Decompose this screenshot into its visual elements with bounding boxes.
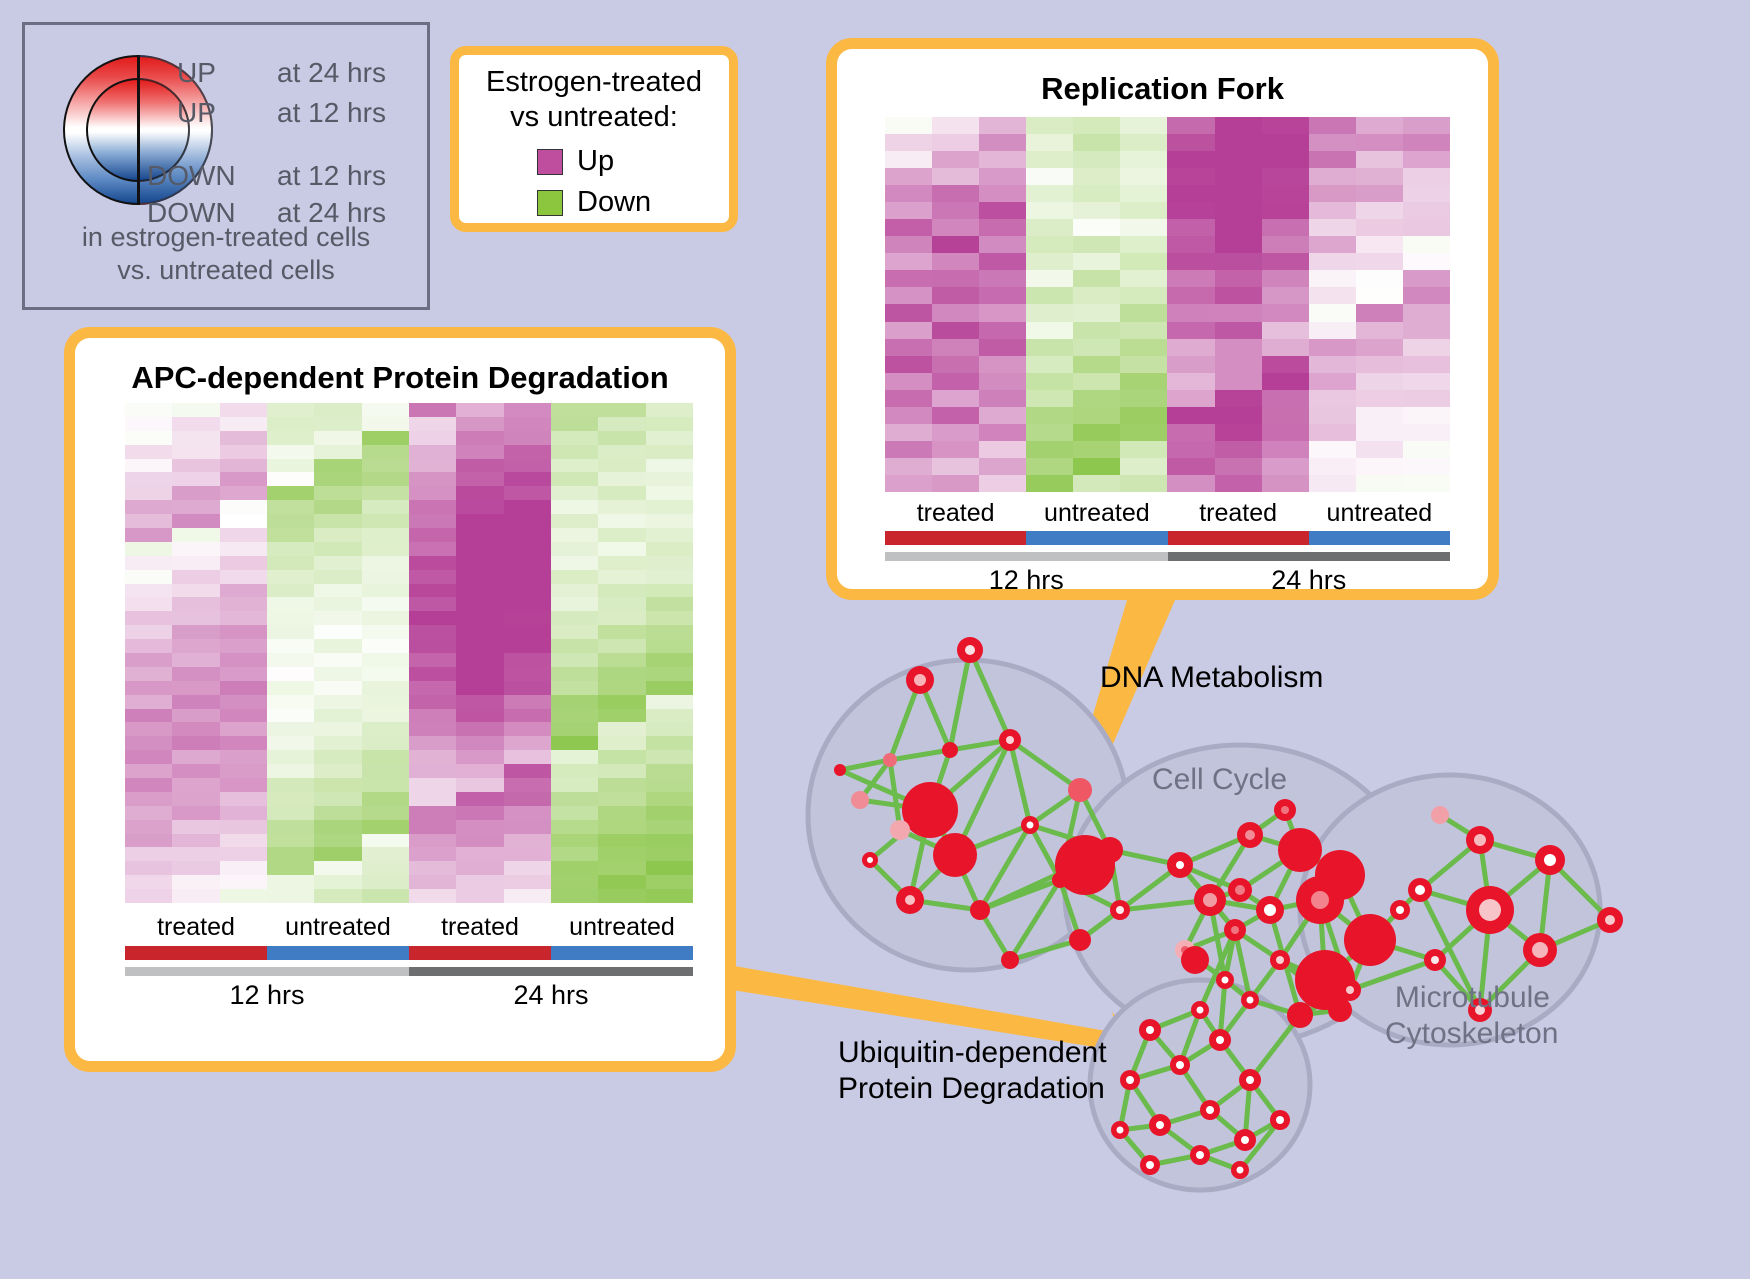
- heatmap-cell: [1262, 185, 1309, 202]
- heatmap-cell: [125, 847, 172, 861]
- heatmap-cell: [172, 736, 219, 750]
- heatmap-cell: [646, 445, 693, 459]
- heatmap-cell: [1356, 236, 1403, 253]
- heatmap-cell: [1120, 441, 1167, 458]
- heatmap-cell: [1167, 287, 1214, 304]
- heatmap-cell: [932, 219, 979, 236]
- panel-replication-fork: Replication Fork treated untreated treat…: [826, 38, 1499, 600]
- heatmap-cell: [1403, 287, 1450, 304]
- heatmap-cell: [409, 861, 456, 875]
- cluster-label-ubiquitin: Ubiquitin-dependent Protein Degradation: [838, 1035, 1128, 1107]
- heatmap-cell: [172, 750, 219, 764]
- heatmap-cell: [646, 820, 693, 834]
- heatmap-cell: [172, 611, 219, 625]
- heatmap-cell: [504, 417, 551, 431]
- heatmap-cell: [1309, 253, 1356, 270]
- heatmap-cell: [456, 764, 503, 778]
- heatmap-cell: [362, 764, 409, 778]
- heatmap-cell: [125, 597, 172, 611]
- heatmap-cell: [646, 403, 693, 417]
- heatmap-cell: [646, 611, 693, 625]
- heatmap-cell: [172, 778, 219, 792]
- heatmap-cell: [220, 556, 267, 570]
- heatmap-cell: [125, 820, 172, 834]
- heatmap-cell: [314, 847, 361, 861]
- heatmap-cell: [551, 445, 598, 459]
- heatmap-cell: [267, 597, 314, 611]
- network-diagram: DNA Metabolism Cell Cycle Microtubule Cy…: [780, 610, 1750, 1279]
- heatmap-cell: [456, 806, 503, 820]
- heatmap-cell: [1215, 407, 1262, 424]
- heatmap-cell: [172, 556, 219, 570]
- heatmap-cell: [267, 764, 314, 778]
- heatmap-cell: [1073, 339, 1120, 356]
- heatmap-cell: [1073, 322, 1120, 339]
- heatmap-cell: [172, 542, 219, 556]
- heatmap-cell: [1073, 253, 1120, 270]
- heatmap-cell: [220, 778, 267, 792]
- heatmap-cell: [362, 695, 409, 709]
- heatmap-cell: [885, 151, 932, 168]
- heatmap-cell: [1403, 339, 1450, 356]
- heatmap-cell: [125, 792, 172, 806]
- heatmap-cell: [598, 875, 645, 889]
- heatmap-cell: [1356, 441, 1403, 458]
- heatmap-cell: [504, 597, 551, 611]
- heatmap-cell: [551, 681, 598, 695]
- heatmap-cell: [885, 236, 932, 253]
- heatmap-cell: [125, 570, 172, 584]
- time-label-12hrs: 12 hrs: [125, 980, 409, 1011]
- heatmap-cell: [598, 806, 645, 820]
- heatmap-cell: [220, 486, 267, 500]
- heatmap-cell: [220, 639, 267, 653]
- heatmap-cell: [172, 722, 219, 736]
- heatmap-cell: [1403, 304, 1450, 321]
- group-color-bar-replication-fork: [885, 531, 1450, 545]
- key-up-24-time: at 24 hrs: [277, 57, 386, 89]
- heatmap-cell: [979, 287, 1026, 304]
- heatmap-cell: [172, 792, 219, 806]
- heatmap-cell: [1167, 270, 1214, 287]
- heatmap-cell: [125, 472, 172, 486]
- heatmap-cell: [1403, 253, 1450, 270]
- heatmap-cell: [885, 202, 932, 219]
- heatmap-cell: [456, 528, 503, 542]
- heatmap-cell: [979, 390, 1026, 407]
- heatmap-cell: [362, 611, 409, 625]
- heatmap-cell: [267, 639, 314, 653]
- heatmap-cell: [314, 472, 361, 486]
- heatmap-cell: [362, 486, 409, 500]
- heatmap-cell: [1026, 390, 1073, 407]
- heatmap-cell: [1120, 219, 1167, 236]
- heatmap-cell: [979, 168, 1026, 185]
- heatmap-cell: [1073, 202, 1120, 219]
- heatmap-cell: [456, 625, 503, 639]
- heatmap-cell: [456, 695, 503, 709]
- heatmap-cell: [125, 889, 172, 903]
- heatmap-cell: [646, 570, 693, 584]
- heatmap-cell: [456, 514, 503, 528]
- heatmap-cell: [1262, 475, 1309, 492]
- heatmap-cell: [125, 806, 172, 820]
- heatmap-cell: [504, 584, 551, 598]
- heatmap-cell: [1167, 424, 1214, 441]
- heatmap-cell: [1120, 151, 1167, 168]
- panel-apc-degradation: APC-dependent Protein Degradation treate…: [64, 327, 736, 1072]
- heatmap-cell: [125, 667, 172, 681]
- heatmap-cell: [314, 889, 361, 903]
- heatmap-cell: [885, 390, 932, 407]
- heatmap-cell: [1262, 304, 1309, 321]
- heatmap-cell: [125, 736, 172, 750]
- heatmap-cell: [125, 459, 172, 473]
- heatmap-cell: [504, 528, 551, 542]
- heatmap-cell: [220, 764, 267, 778]
- heatmap-cell: [1309, 407, 1356, 424]
- legend-title-line2: vs untreated:: [459, 100, 729, 135]
- heatmap-cell: [314, 736, 361, 750]
- heatmap-cell: [1356, 475, 1403, 492]
- heatmap-cell: [456, 875, 503, 889]
- heatmap-cell: [220, 667, 267, 681]
- heatmap-cell: [409, 709, 456, 723]
- heatmap-cell: [1026, 441, 1073, 458]
- heatmap-cell: [646, 722, 693, 736]
- heatmap-cell: [220, 806, 267, 820]
- heatmap-cell: [551, 486, 598, 500]
- cluster-label-microtubule-line2: Cytoskeleton: [1385, 1016, 1550, 1052]
- heatmap-cell: [979, 270, 1026, 287]
- heatmap-cell: [551, 736, 598, 750]
- heatmap-cell: [551, 875, 598, 889]
- heatmap-cell: [551, 695, 598, 709]
- heatmap-cell: [172, 820, 219, 834]
- heatmap-cell: [314, 597, 361, 611]
- heatmap-cell: [456, 889, 503, 903]
- heatmap-cell: [1309, 236, 1356, 253]
- heatmap-cell: [979, 441, 1026, 458]
- heatmap-cell: [979, 356, 1026, 373]
- heatmap-cell: [456, 834, 503, 848]
- heatmap-cell: [504, 778, 551, 792]
- heatmap-cell: [1262, 134, 1309, 151]
- heatmap-cell: [314, 403, 361, 417]
- group-bar-treated-12: [125, 946, 267, 960]
- heatmap-cell: [125, 403, 172, 417]
- heatmap-cell: [267, 459, 314, 473]
- heatmap-cell: [1167, 441, 1214, 458]
- heatmap-cell: [979, 134, 1026, 151]
- heatmap-cell: [1403, 322, 1450, 339]
- heatmap-cell: [1073, 134, 1120, 151]
- heatmap-cell: [1262, 458, 1309, 475]
- heatmap-cell: [456, 486, 503, 500]
- heatmap-cell: [885, 458, 932, 475]
- heatmap-cell: [1356, 151, 1403, 168]
- heatmap-cell: [409, 500, 456, 514]
- heatmap-cell: [1026, 304, 1073, 321]
- heatmap-cell: [314, 875, 361, 889]
- heatmap-cell: [504, 459, 551, 473]
- heatmap-cell: [267, 556, 314, 570]
- heatmap-cell: [172, 875, 219, 889]
- up-color-swatch: [537, 149, 563, 175]
- heatmap-cell: [314, 500, 361, 514]
- heatmap-cell: [314, 556, 361, 570]
- heatmap-cell: [267, 584, 314, 598]
- heatmap-cell: [314, 570, 361, 584]
- heatmap-cell: [267, 834, 314, 848]
- heatmap-cell: [267, 667, 314, 681]
- heatmap-cell: [979, 202, 1026, 219]
- heatmap-cell: [362, 778, 409, 792]
- heatmap-cell: [220, 695, 267, 709]
- heatmap-cell: [885, 356, 932, 373]
- heatmap-cell: [456, 597, 503, 611]
- heatmap-cell: [551, 542, 598, 556]
- heatmap-cell: [409, 778, 456, 792]
- heatmap-cell: [125, 431, 172, 445]
- heatmap-cell: [598, 667, 645, 681]
- heatmap-cell: [551, 611, 598, 625]
- heatmap-cell: [551, 820, 598, 834]
- heatmap-cell: [1403, 441, 1450, 458]
- heatmap-cell: [1167, 373, 1214, 390]
- heatmap-cell: [1262, 270, 1309, 287]
- cluster-label-microtubule: Microtubule Cytoskeleton: [1385, 980, 1550, 1052]
- heatmap-cell: [1309, 185, 1356, 202]
- time-bar-24hrs: [409, 967, 693, 976]
- heatmap-cell: [1073, 373, 1120, 390]
- heatmap-cell: [409, 653, 456, 667]
- heatmap-cell: [646, 889, 693, 903]
- color-key-footer: in estrogen-treated cells vs. untreated …: [25, 221, 427, 287]
- heatmap-cell: [551, 709, 598, 723]
- heatmap-cell: [220, 709, 267, 723]
- heatmap-cell: [1215, 304, 1262, 321]
- heatmap-cell: [1215, 219, 1262, 236]
- heatmap-cell: [1026, 134, 1073, 151]
- heatmap-cell: [314, 681, 361, 695]
- heatmap-cell: [1215, 424, 1262, 441]
- heatmap-cell: [598, 597, 645, 611]
- heatmap-cell: [551, 764, 598, 778]
- time-bar-24hrs: [1168, 552, 1451, 561]
- heatmap-cell: [1026, 407, 1073, 424]
- heatmap-cell: [125, 681, 172, 695]
- heatmap-cell: [456, 570, 503, 584]
- heatmap-cell: [504, 431, 551, 445]
- heatmap-cell: [220, 597, 267, 611]
- heatmap-cell: [267, 778, 314, 792]
- heatmap-cell: [409, 889, 456, 903]
- heatmap-cell: [1215, 322, 1262, 339]
- heatmap-cell: [1215, 253, 1262, 270]
- heatmap-cell: [220, 861, 267, 875]
- heatmap-cell: [646, 875, 693, 889]
- heatmap-cell: [598, 431, 645, 445]
- heatmap-cell: [1073, 236, 1120, 253]
- heatmap-cell: [1167, 168, 1214, 185]
- heatmap-cell: [1073, 424, 1120, 441]
- heatmap-cell: [267, 542, 314, 556]
- heatmap-cell: [1356, 270, 1403, 287]
- down-color-swatch: [537, 190, 563, 216]
- heatmap-cell: [172, 597, 219, 611]
- heatmap-cell: [125, 709, 172, 723]
- heatmap-cell: [409, 639, 456, 653]
- heatmap-cell: [1120, 185, 1167, 202]
- heatmap-cell: [409, 750, 456, 764]
- heatmap-cell: [1026, 475, 1073, 492]
- heatmap-cell: [885, 424, 932, 441]
- heatmap-cell: [1073, 441, 1120, 458]
- heatmap-cell: [172, 500, 219, 514]
- heatmap-cell: [409, 792, 456, 806]
- heatmap-cell: [598, 584, 645, 598]
- heatmap-cell: [1403, 134, 1450, 151]
- heatmap-cell: [551, 861, 598, 875]
- heatmap-cell: [125, 542, 172, 556]
- heatmap-cell: [504, 570, 551, 584]
- heatmap-cell: [172, 695, 219, 709]
- heatmap-cell: [456, 861, 503, 875]
- heatmap-cell: [646, 542, 693, 556]
- heatmap-cell: [598, 403, 645, 417]
- heatmap-cell: [220, 403, 267, 417]
- heatmap-cell: [172, 847, 219, 861]
- heatmap-cell: [1356, 356, 1403, 373]
- heatmap-cell: [125, 695, 172, 709]
- heatmap-cell: [267, 820, 314, 834]
- heatmap-cell: [504, 709, 551, 723]
- heatmap-cell: [646, 861, 693, 875]
- heatmap-cell: [1262, 168, 1309, 185]
- heatmap-cell: [598, 500, 645, 514]
- heatmap-cell: [1167, 304, 1214, 321]
- heatmap-cell: [267, 500, 314, 514]
- heatmap-cell: [456, 500, 503, 514]
- heatmap-cell: [1309, 390, 1356, 407]
- heatmap-cell: [1026, 185, 1073, 202]
- heatmap-cell: [267, 403, 314, 417]
- heatmap-cell: [125, 653, 172, 667]
- heatmap-cell: [1403, 185, 1450, 202]
- heatmap-cell: [1356, 168, 1403, 185]
- heatmap-cell: [409, 611, 456, 625]
- heatmap-cell: [598, 834, 645, 848]
- heatmap-cell: [314, 486, 361, 500]
- heatmap-cell: [409, 445, 456, 459]
- heatmap-cell: [362, 584, 409, 598]
- heatmap-cell: [885, 219, 932, 236]
- heatmap-cell: [1167, 253, 1214, 270]
- heatmap-cell: [1120, 475, 1167, 492]
- heatmap-cell: [1309, 373, 1356, 390]
- heatmap-cell: [885, 270, 932, 287]
- heatmap-cell: [1215, 339, 1262, 356]
- heatmap-cell: [172, 514, 219, 528]
- heatmap-cell: [1215, 373, 1262, 390]
- heatmap-cell: [551, 514, 598, 528]
- time-color-bar-replication-fork: [885, 552, 1450, 561]
- time-label-24hrs: 24 hrs: [409, 980, 693, 1011]
- heatmap-cell: [1120, 202, 1167, 219]
- heatmap-cell: [1215, 202, 1262, 219]
- heatmap-cell: [314, 584, 361, 598]
- heatmap-cell: [314, 709, 361, 723]
- heatmap-cell: [504, 681, 551, 695]
- heatmap-cell: [598, 736, 645, 750]
- group-label-untreated-12: untreated: [1026, 499, 1167, 528]
- heatmap-cell: [646, 778, 693, 792]
- heatmap-cell: [125, 639, 172, 653]
- heatmap-cell: [409, 584, 456, 598]
- heatmap-cell: [1167, 458, 1214, 475]
- heatmap-cell: [932, 322, 979, 339]
- heatmap-cell: [125, 722, 172, 736]
- heatmap-cell: [362, 667, 409, 681]
- heatmap-cell: [1026, 339, 1073, 356]
- heatmap-cell: [314, 778, 361, 792]
- group-label-untreated-24: untreated: [1309, 499, 1450, 528]
- heatmap-cell: [1309, 475, 1356, 492]
- heatmap-cell: [267, 486, 314, 500]
- heatmap-cell: [979, 185, 1026, 202]
- panel-title-apc: APC-dependent Protein Degradation: [75, 360, 725, 396]
- group-color-bar-apc: [125, 946, 693, 960]
- heatmap-cell: [932, 202, 979, 219]
- heatmap-cell: [362, 570, 409, 584]
- heatmap-cell: [1262, 236, 1309, 253]
- heatmap-cell: [267, 625, 314, 639]
- heatmap-cell: [598, 695, 645, 709]
- heatmap-cell: [979, 236, 1026, 253]
- heatmap-cell: [220, 570, 267, 584]
- heatmap-cell: [1073, 287, 1120, 304]
- heatmap-cell: [646, 653, 693, 667]
- group-label-treated-24: treated: [1168, 499, 1309, 528]
- heatmap-cell: [172, 431, 219, 445]
- heatmap-cell: [1167, 356, 1214, 373]
- heatmap-cell: [1356, 253, 1403, 270]
- heatmap-cell: [1167, 236, 1214, 253]
- heatmap-cell: [362, 709, 409, 723]
- heatmap-cell: [1215, 390, 1262, 407]
- heatmap-cell: [551, 639, 598, 653]
- heatmap-cell: [551, 625, 598, 639]
- heatmap-cell: [1215, 458, 1262, 475]
- heatmap-cell: [598, 514, 645, 528]
- heatmap-cell: [1356, 202, 1403, 219]
- heatmap-cell: [1403, 373, 1450, 390]
- heatmap-cell: [314, 722, 361, 736]
- heatmap-cell: [1026, 202, 1073, 219]
- heatmap-cell: [220, 528, 267, 542]
- heatmap-cell: [362, 681, 409, 695]
- heatmap-cell: [172, 528, 219, 542]
- heatmap-cell: [267, 889, 314, 903]
- heatmap-cell: [220, 834, 267, 848]
- heatmap-cell: [456, 750, 503, 764]
- heatmap-cell: [1403, 407, 1450, 424]
- heatmap-cell: [220, 889, 267, 903]
- heatmap-cell: [362, 806, 409, 820]
- heatmap-cell: [979, 304, 1026, 321]
- heatmap-cell: [220, 847, 267, 861]
